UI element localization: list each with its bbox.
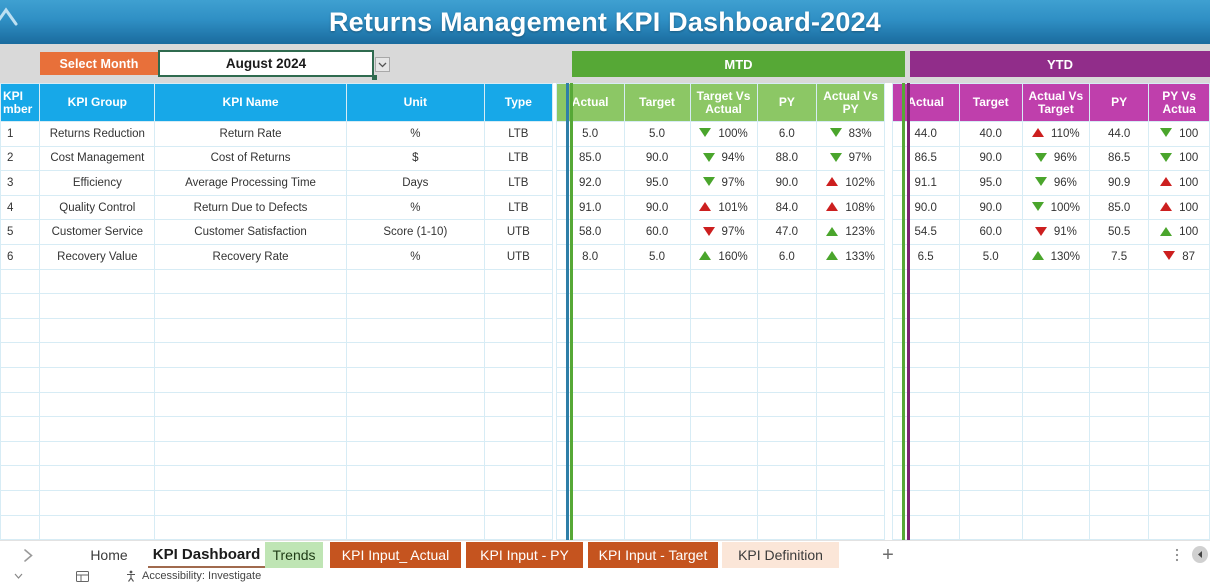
cell-mtd-py[interactable]: 88.0 (757, 146, 816, 171)
cell-kpi-number[interactable]: 5 (1, 220, 40, 245)
cell-unit[interactable]: $ (346, 146, 484, 171)
cell-unit[interactable]: % (346, 244, 484, 269)
cell-ytd-actual-vs-target-value: 96% (1054, 152, 1077, 164)
empty-cell[interactable] (817, 269, 885, 294)
cell-mtd-target-vs-actual[interactable]: 97% (690, 171, 757, 196)
cell-mtd-target-vs-actual[interactable]: 97% (690, 220, 757, 245)
empty-cell[interactable] (690, 515, 757, 540)
empty-cell[interactable] (484, 343, 552, 368)
cell-ytd-target[interactable]: 90.0 (959, 195, 1022, 220)
empty-cell[interactable] (817, 318, 885, 343)
empty-cell[interactable] (1022, 318, 1089, 343)
empty-cell[interactable] (817, 417, 885, 442)
empty-cell[interactable] (1, 441, 40, 466)
empty-cell[interactable] (1022, 515, 1089, 540)
empty-cell[interactable] (40, 367, 155, 392)
cell-kpi-name[interactable]: Return Due to Defects (155, 195, 347, 220)
cell-mtd-actual-vs-py[interactable]: 123% (817, 220, 885, 245)
cell-kpi-group[interactable]: Returns Reduction (40, 122, 155, 147)
cell-kpi-group[interactable]: Efficiency (40, 171, 155, 196)
empty-cell[interactable] (959, 367, 1022, 392)
empty-cell[interactable] (346, 367, 484, 392)
cell-kpi-group[interactable]: Customer Service (40, 220, 155, 245)
cell-ytd-actual-vs-target[interactable]: 91% (1022, 220, 1089, 245)
cell-mtd-target[interactable]: 90.0 (624, 195, 690, 220)
cell-kpi-number[interactable]: 4 (1, 195, 40, 220)
cell-mtd-target[interactable]: 60.0 (624, 220, 690, 245)
spacer-cell (885, 417, 893, 442)
empty-cell[interactable] (690, 367, 757, 392)
empty-cell[interactable] (690, 269, 757, 294)
spacer-cell (885, 244, 893, 269)
table-row[interactable]: 6Recovery ValueRecovery Rate%UTB8.05.016… (1, 244, 1210, 269)
empty-cell[interactable] (1, 343, 40, 368)
empty-cell[interactable] (624, 269, 690, 294)
cell-kpi-group[interactable]: Quality Control (40, 195, 155, 220)
cell-ytd-target[interactable]: 60.0 (959, 220, 1022, 245)
cell-ytd-actual-vs-target-value: 96% (1054, 177, 1077, 189)
sheet-tab-label: KPI Definition (738, 547, 823, 563)
empty-cell[interactable] (1, 318, 40, 343)
empty-cell[interactable] (624, 417, 690, 442)
col-header-ytd-py-vs-actual[interactable]: PY VsActua (1149, 84, 1210, 122)
empty-cell[interactable] (1149, 515, 1210, 540)
caret-left-icon[interactable] (1192, 546, 1208, 563)
empty-cell[interactable] (1022, 343, 1089, 368)
empty-cell[interactable] (1089, 515, 1148, 540)
cell-mtd-target-vs-actual[interactable]: 94% (690, 146, 757, 171)
table-body: 1Returns ReductionReturn Rate%LTB5.05.01… (1, 122, 1210, 565)
empty-cell[interactable] (817, 441, 885, 466)
cell-ytd-py[interactable]: 50.5 (1089, 220, 1148, 245)
col-header-mtd-py[interactable]: PY (757, 84, 816, 122)
empty-cell[interactable] (1089, 490, 1148, 515)
trend-up-red-icon (826, 177, 838, 186)
layout-icon[interactable] (76, 570, 89, 582)
empty-cell[interactable] (484, 466, 552, 491)
empty-cell[interactable] (1089, 466, 1148, 491)
cell-mtd-py[interactable]: 90.0 (757, 171, 816, 196)
empty-cell[interactable] (1, 392, 40, 417)
empty-cell[interactable] (484, 294, 552, 319)
cell-ytd-py[interactable]: 85.0 (1089, 195, 1148, 220)
cell-kpi-group[interactable]: Recovery Value (40, 244, 155, 269)
empty-cell[interactable] (1, 490, 40, 515)
empty-cell[interactable] (624, 515, 690, 540)
empty-cell[interactable] (1089, 269, 1148, 294)
cell-kpi-name[interactable]: Recovery Rate (155, 244, 347, 269)
empty-cell[interactable] (346, 343, 484, 368)
empty-cell[interactable] (40, 490, 155, 515)
empty-cell[interactable] (757, 392, 816, 417)
cell-ytd-py-vs-actual-value: 100 (1179, 152, 1198, 164)
cell-ytd-py-vs-actual[interactable]: 100 (1149, 171, 1210, 196)
empty-cell[interactable] (757, 466, 816, 491)
col-header-unit[interactable]: Unit (346, 84, 484, 122)
chevron-right-icon[interactable] (14, 540, 42, 570)
empty-cell[interactable] (1089, 392, 1148, 417)
table-row-empty[interactable] (1, 367, 1210, 392)
empty-cell[interactable] (1022, 294, 1089, 319)
sheet-tab-kpi-definition[interactable]: KPI Definition (722, 542, 839, 568)
empty-cell[interactable] (155, 269, 347, 294)
empty-cell[interactable] (817, 392, 885, 417)
cell-ytd-py[interactable]: 86.5 (1089, 146, 1148, 171)
table-row-empty[interactable] (1, 490, 1210, 515)
empty-cell[interactable] (817, 490, 885, 515)
empty-cell[interactable] (959, 343, 1022, 368)
cell-type[interactable]: LTB (484, 195, 552, 220)
cell-mtd-actual-vs-py[interactable]: 108% (817, 195, 885, 220)
empty-cell[interactable] (1149, 269, 1210, 294)
empty-cell[interactable] (690, 343, 757, 368)
empty-cell[interactable] (690, 490, 757, 515)
cell-kpi-number[interactable]: 2 (1, 146, 40, 171)
spacer-cell (885, 367, 893, 392)
table-row[interactable]: 3EfficiencyAverage Processing TimeDaysLT… (1, 171, 1210, 196)
cell-ytd-py[interactable]: 44.0 (1089, 122, 1148, 147)
cell-kpi-group[interactable]: Cost Management (40, 146, 155, 171)
empty-cell[interactable] (40, 392, 155, 417)
cell-ytd-actual-vs-target-value: 91% (1054, 226, 1077, 238)
col-header-ytd-py[interactable]: PY (1089, 84, 1148, 122)
cell-unit[interactable]: Days (346, 171, 484, 196)
cell-mtd-actual-vs-py-value: 83% (849, 128, 872, 140)
sheet-tab-kpi-input-py[interactable]: KPI Input - PY (466, 542, 583, 568)
empty-cell[interactable] (959, 269, 1022, 294)
spacer-col-2 (885, 84, 893, 122)
cell-kpi-name[interactable]: Customer Satisfaction (155, 220, 347, 245)
empty-cell[interactable] (817, 466, 885, 491)
cell-ytd-py-vs-actual[interactable]: 100 (1149, 220, 1210, 245)
empty-cell[interactable] (624, 392, 690, 417)
empty-cell[interactable] (40, 417, 155, 442)
table-row[interactable]: 1Returns ReductionReturn Rate%LTB5.05.01… (1, 122, 1210, 147)
empty-cell[interactable] (1089, 343, 1148, 368)
empty-cell[interactable] (484, 318, 552, 343)
empty-cell[interactable] (757, 318, 816, 343)
empty-cell[interactable] (757, 367, 816, 392)
empty-cell[interactable] (817, 515, 885, 540)
empty-cell[interactable] (155, 466, 347, 491)
trend-up-green-icon (826, 227, 838, 236)
trend-down-red-icon (703, 227, 715, 236)
cell-mtd-target-vs-actual[interactable]: 160% (690, 244, 757, 269)
cell-mtd-target[interactable]: 95.0 (624, 171, 690, 196)
spacer-cell (885, 515, 893, 540)
empty-cell[interactable] (817, 367, 885, 392)
empty-cell[interactable] (484, 490, 552, 515)
cell-mtd-target[interactable]: 5.0 (624, 122, 690, 147)
col-header-mtd-target-vs-actual[interactable]: Target VsActual (690, 84, 757, 122)
table-row-empty[interactable] (1, 343, 1210, 368)
empty-cell[interactable] (484, 441, 552, 466)
empty-cell[interactable] (817, 294, 885, 319)
empty-cell[interactable] (1149, 367, 1210, 392)
empty-cell[interactable] (1022, 441, 1089, 466)
cell-kpi-number[interactable]: 3 (1, 171, 40, 196)
empty-cell[interactable] (346, 466, 484, 491)
empty-cell[interactable] (1089, 367, 1148, 392)
empty-cell[interactable] (1, 515, 40, 540)
empty-cell[interactable] (959, 318, 1022, 343)
empty-cell[interactable] (1149, 318, 1210, 343)
select-month-label: Select Month (40, 52, 158, 75)
empty-cell[interactable] (346, 515, 484, 540)
empty-cell[interactable] (690, 392, 757, 417)
empty-cell[interactable] (40, 269, 155, 294)
empty-cell[interactable] (1, 294, 40, 319)
empty-cell[interactable] (1149, 466, 1210, 491)
col-header-kpi-group[interactable]: KPI Group (40, 84, 155, 122)
empty-cell[interactable] (1022, 466, 1089, 491)
cell-ytd-py-vs-actual[interactable]: 87 (1149, 244, 1210, 269)
cell-kpi-name[interactable]: Cost of Returns (155, 146, 347, 171)
empty-cell[interactable] (155, 318, 347, 343)
empty-cell[interactable] (757, 417, 816, 442)
empty-cell[interactable] (757, 343, 816, 368)
grid-separator-blue (566, 83, 569, 540)
empty-cell[interactable] (155, 343, 347, 368)
empty-cell[interactable] (1089, 294, 1148, 319)
cell-mtd-target-vs-actual-value: 101% (718, 202, 747, 214)
empty-cell[interactable] (624, 490, 690, 515)
empty-cell[interactable] (40, 466, 155, 491)
empty-cell[interactable] (690, 417, 757, 442)
empty-cell[interactable] (1022, 269, 1089, 294)
table-row-empty[interactable] (1, 515, 1210, 540)
empty-cell[interactable] (757, 515, 816, 540)
trend-down-red-icon (1163, 251, 1175, 260)
empty-cell[interactable] (624, 318, 690, 343)
col-header-type[interactable]: Type (484, 84, 552, 122)
empty-cell[interactable] (959, 441, 1022, 466)
cell-ytd-py-vs-actual-value: 100 (1179, 177, 1198, 189)
sheet-tab-kpi-input-actual[interactable]: KPI Input_ Actual (330, 542, 461, 568)
table-row-empty[interactable] (1, 392, 1210, 417)
empty-cell[interactable] (624, 466, 690, 491)
cell-mtd-actual-vs-py[interactable]: 102% (817, 171, 885, 196)
sheet-tab-kpi-dashboard[interactable]: KPI Dashboard (148, 542, 265, 568)
cell-type[interactable]: LTB (484, 171, 552, 196)
sheet-tab-home[interactable]: Home (70, 542, 148, 568)
add-sheet-button[interactable]: + (872, 542, 904, 568)
cell-mtd-py[interactable]: 6.0 (757, 122, 816, 147)
empty-cell[interactable] (40, 343, 155, 368)
cell-ytd-target[interactable]: 5.0 (959, 244, 1022, 269)
table-row-empty[interactable] (1, 466, 1210, 491)
month-selector-input[interactable]: August 2024 (158, 50, 374, 77)
empty-cell[interactable] (484, 269, 552, 294)
empty-cell[interactable] (155, 441, 347, 466)
empty-cell[interactable] (1022, 417, 1089, 442)
cell-type[interactable]: UTB (484, 244, 552, 269)
empty-cell[interactable] (624, 441, 690, 466)
accessibility-label: Accessibility: Investigate (142, 570, 261, 582)
empty-cell[interactable] (346, 318, 484, 343)
empty-cell[interactable] (155, 294, 347, 319)
spacer-cell (885, 195, 893, 220)
cell-ytd-py[interactable]: 7.5 (1089, 244, 1148, 269)
empty-cell[interactable] (757, 269, 816, 294)
empty-cell[interactable] (1022, 490, 1089, 515)
empty-cell[interactable] (155, 515, 347, 540)
status-bar: Accessibility: Investigate (0, 570, 1210, 582)
trend-up-red-icon (699, 202, 711, 211)
empty-cell[interactable] (1149, 392, 1210, 417)
cell-ytd-actual-vs-target-value: 110% (1051, 128, 1080, 140)
trend-up-red-icon (1032, 128, 1044, 137)
col-header-ytd-target[interactable]: Target (959, 84, 1022, 122)
cell-unit[interactable]: % (346, 195, 484, 220)
sheet-tab-kpi-input-target[interactable]: KPI Input - Target (588, 542, 718, 568)
empty-cell[interactable] (1022, 392, 1089, 417)
status-chevron (14, 570, 23, 582)
empty-cell[interactable] (959, 515, 1022, 540)
cell-ytd-py-vs-actual[interactable]: 100 (1149, 195, 1210, 220)
cell-mtd-py[interactable]: 47.0 (757, 220, 816, 245)
cell-unit[interactable]: Score (1-10) (346, 220, 484, 245)
grid-separator-green-right (902, 83, 905, 540)
empty-cell[interactable] (1, 466, 40, 491)
chevron-down-icon[interactable] (375, 57, 390, 72)
mtd-group-banner: MTD (572, 51, 905, 77)
empty-cell[interactable] (757, 490, 816, 515)
sheet-tab-trends[interactable]: Trends (265, 542, 323, 568)
empty-cell[interactable] (346, 417, 484, 442)
cell-kpi-name[interactable]: Average Processing Time (155, 171, 347, 196)
col-header-kpi-number[interactable]: KPImber (1, 84, 40, 122)
col-header-mtd-actual-vs-py[interactable]: Actual VsPY (817, 84, 885, 122)
cell-mtd-py[interactable]: 84.0 (757, 195, 816, 220)
col-header-mtd-target[interactable]: Target (624, 84, 690, 122)
empty-cell[interactable] (690, 441, 757, 466)
cell-mtd-target[interactable]: 90.0 (624, 146, 690, 171)
empty-cell[interactable] (155, 490, 347, 515)
cell-kpi-name[interactable]: Return Rate (155, 122, 347, 147)
table-row-empty[interactable] (1, 294, 1210, 319)
empty-cell[interactable] (959, 392, 1022, 417)
col-header-kpi-name[interactable]: KPI Name (155, 84, 347, 122)
accessibility-status[interactable]: Accessibility: Investigate (125, 570, 261, 582)
empty-cell[interactable] (1149, 417, 1210, 442)
empty-cell[interactable] (1149, 441, 1210, 466)
cell-mtd-target-vs-actual[interactable]: 100% (690, 122, 757, 147)
table-row-empty[interactable] (1, 441, 1210, 466)
cell-mtd-target[interactable]: 5.0 (624, 244, 690, 269)
empty-cell[interactable] (1149, 490, 1210, 515)
empty-cell[interactable] (1089, 318, 1148, 343)
cell-ytd-actual-vs-target[interactable]: 100% (1022, 195, 1089, 220)
cell-mtd-py[interactable]: 6.0 (757, 244, 816, 269)
empty-cell[interactable] (40, 318, 155, 343)
empty-cell[interactable] (757, 441, 816, 466)
cell-mtd-actual-vs-py-value: 97% (849, 152, 872, 164)
empty-cell[interactable] (155, 417, 347, 442)
cell-mtd-actual-vs-py[interactable]: 133% (817, 244, 885, 269)
empty-cell[interactable] (1, 417, 40, 442)
cell-mtd-actual-vs-py[interactable]: 83% (817, 122, 885, 147)
empty-cell[interactable] (1, 269, 40, 294)
empty-cell[interactable] (959, 490, 1022, 515)
empty-cell[interactable] (1089, 417, 1148, 442)
empty-cell[interactable] (40, 294, 155, 319)
empty-cell[interactable] (1149, 294, 1210, 319)
empty-cell[interactable] (1, 367, 40, 392)
cell-kpi-number[interactable]: 6 (1, 244, 40, 269)
empty-cell[interactable] (624, 294, 690, 319)
cell-mtd-target-vs-actual-value: 97% (722, 177, 745, 189)
cell-mtd-actual-vs-py[interactable]: 97% (817, 146, 885, 171)
spreadsheet-grid[interactable]: KPImber KPI Group KPI Name Unit Type Act… (0, 83, 1210, 540)
empty-cell[interactable] (690, 294, 757, 319)
cell-type[interactable]: UTB (484, 220, 552, 245)
empty-cell[interactable] (484, 392, 552, 417)
cell-type[interactable]: LTB (484, 122, 552, 147)
empty-cell[interactable] (346, 294, 484, 319)
cell-ytd-target[interactable]: 40.0 (959, 122, 1022, 147)
table-row-empty[interactable] (1, 269, 1210, 294)
empty-cell[interactable] (40, 515, 155, 540)
empty-cell[interactable] (346, 490, 484, 515)
cell-kpi-number[interactable]: 1 (1, 122, 40, 147)
table-row[interactable]: 5Customer ServiceCustomer SatisfactionSc… (1, 220, 1210, 245)
empty-cell[interactable] (1089, 441, 1148, 466)
cell-ytd-actual-vs-target[interactable]: 130% (1022, 244, 1089, 269)
table-row-empty[interactable] (1, 318, 1210, 343)
empty-cell[interactable] (690, 318, 757, 343)
empty-cell[interactable] (624, 367, 690, 392)
empty-cell[interactable] (484, 515, 552, 540)
table-row[interactable]: 4Quality ControlReturn Due to Defects%LT… (1, 195, 1210, 220)
empty-cell[interactable] (757, 294, 816, 319)
table-row-empty[interactable] (1, 417, 1210, 442)
cell-ytd-py-vs-actual[interactable]: 100 (1149, 122, 1210, 147)
empty-cell[interactable] (346, 392, 484, 417)
cell-fill-handle[interactable] (372, 75, 377, 80)
cell-ytd-actual-vs-target[interactable]: 110% (1022, 122, 1089, 147)
empty-cell[interactable] (40, 441, 155, 466)
cell-ytd-actual-vs-target[interactable]: 96% (1022, 171, 1089, 196)
cell-type[interactable]: LTB (484, 146, 552, 171)
empty-cell[interactable] (155, 367, 347, 392)
empty-cell[interactable] (346, 441, 484, 466)
cell-ytd-actual-vs-target[interactable]: 96% (1022, 146, 1089, 171)
empty-cell[interactable] (346, 269, 484, 294)
cell-unit[interactable]: % (346, 122, 484, 147)
cell-ytd-py-vs-actual[interactable]: 100 (1149, 146, 1210, 171)
cell-ytd-target[interactable]: 90.0 (959, 146, 1022, 171)
empty-cell[interactable] (484, 367, 552, 392)
empty-cell[interactable] (1149, 343, 1210, 368)
cell-ytd-py[interactable]: 90.9 (1089, 171, 1148, 196)
empty-cell[interactable] (155, 392, 347, 417)
empty-cell[interactable] (624, 343, 690, 368)
empty-cell[interactable] (959, 294, 1022, 319)
empty-cell[interactable] (1022, 367, 1089, 392)
col-header-ytd-actual-vs-target[interactable]: Actual VsTarget (1022, 84, 1089, 122)
empty-cell[interactable] (959, 466, 1022, 491)
empty-cell[interactable] (690, 466, 757, 491)
table-row[interactable]: 2Cost ManagementCost of Returns$LTB85.09… (1, 146, 1210, 171)
cell-ytd-target[interactable]: 95.0 (959, 171, 1022, 196)
empty-cell[interactable] (959, 417, 1022, 442)
cell-mtd-target-vs-actual[interactable]: 101% (690, 195, 757, 220)
sheet-tab-label: KPI Dashboard (153, 546, 261, 563)
empty-cell[interactable] (817, 343, 885, 368)
vertical-ellipsis-icon[interactable] (1170, 546, 1184, 564)
empty-cell[interactable] (484, 417, 552, 442)
